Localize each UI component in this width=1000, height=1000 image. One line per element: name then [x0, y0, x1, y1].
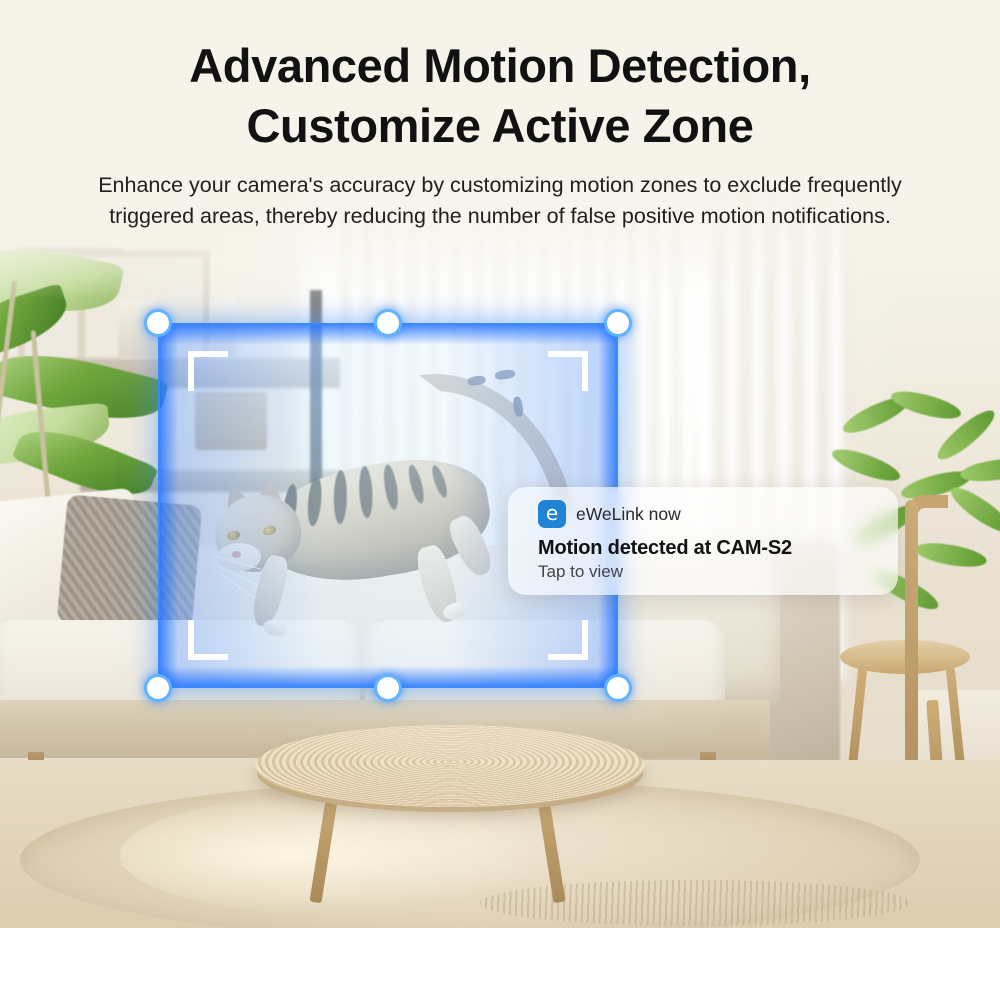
plant-stand-pole: [905, 500, 918, 800]
leaf: [914, 539, 988, 571]
bracket-top-right-icon: [548, 351, 588, 391]
page-title-line2: Customize Active Zone: [0, 96, 1000, 156]
ewelink-app-icon: e: [538, 500, 566, 528]
bottom-white-strip: [0, 928, 1000, 1000]
bracket-bottom-right-icon: [548, 620, 588, 660]
motion-notification-card[interactable]: e eWeLink now Motion detected at CAM-S2 …: [508, 487, 898, 595]
rug-fringe: [480, 880, 910, 926]
leaf: [829, 443, 903, 486]
handle-bottom-right[interactable]: [604, 674, 632, 702]
coffee-table-top: [255, 725, 645, 807]
page-title: Advanced Motion Detection, Customize Act…: [0, 36, 1000, 155]
handle-top-right[interactable]: [604, 309, 632, 337]
handle-top-center[interactable]: [374, 309, 402, 337]
promo-page: e eWeLink now Motion detected at CAM-S2 …: [0, 0, 1000, 1000]
page-title-line1: Advanced Motion Detection,: [0, 36, 1000, 96]
notification-app-name: eWeLink now: [576, 504, 681, 525]
leaf: [946, 481, 1000, 539]
notification-subtitle: Tap to view: [538, 562, 623, 582]
notification-title: Motion detected at CAM-S2: [538, 537, 792, 560]
handle-bottom-center[interactable]: [374, 674, 402, 702]
handle-bottom-left[interactable]: [144, 674, 172, 702]
handle-top-left[interactable]: [144, 309, 172, 337]
page-subtitle: Enhance your camera's accuracy by custom…: [60, 170, 940, 231]
bracket-bottom-left-icon: [188, 620, 228, 660]
notification-header: e eWeLink now: [538, 500, 681, 528]
bracket-top-left-icon: [188, 351, 228, 391]
